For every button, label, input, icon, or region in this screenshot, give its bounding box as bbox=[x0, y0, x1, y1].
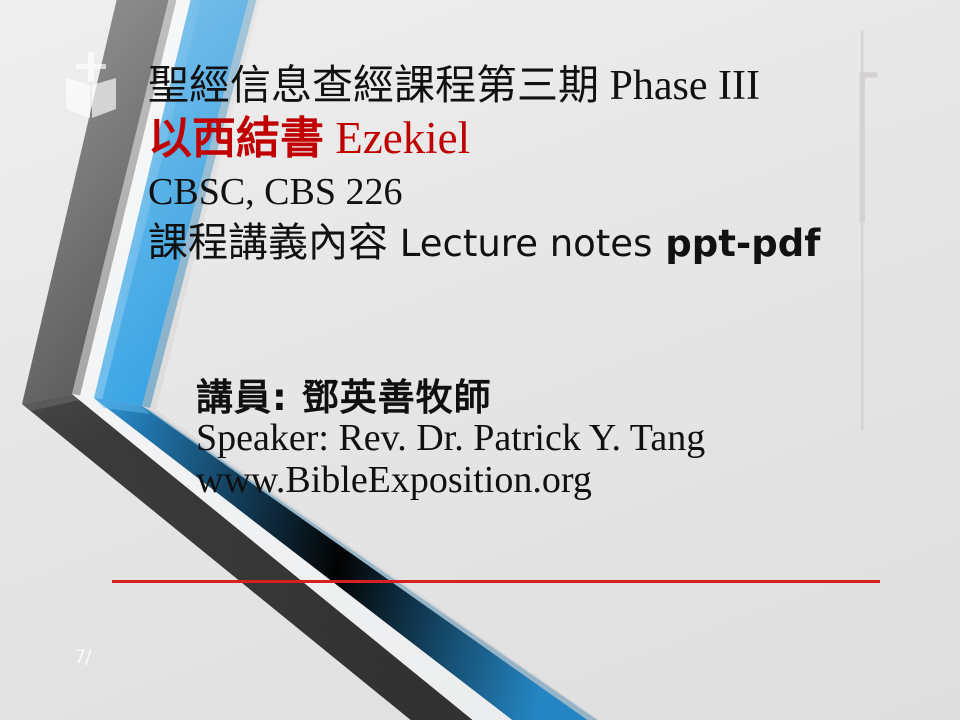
title-line-book-han: 以西結書 bbox=[148, 113, 324, 164]
slide-canvas: 聖經信息查經課程第三期 Phase III 以西結書 Ezekiel CBSC,… bbox=[0, 0, 960, 720]
title-line-notes: 課程講義內容 Lecture notes ppt-pdf bbox=[148, 222, 908, 264]
title-block: 聖經信息查經課程第三期 Phase III 以西結書 Ezekiel CBSC,… bbox=[148, 64, 908, 269]
speaker-name-han: 講員: 鄧英善牧師 bbox=[196, 378, 916, 418]
title-line-book: 以西結書 Ezekiel bbox=[148, 115, 908, 163]
title-line-notes-han: 課程講義內容 bbox=[148, 220, 388, 266]
page-number: 7/ bbox=[74, 646, 91, 668]
title-line-book-latin: Ezekiel bbox=[324, 113, 470, 163]
title-line-course: 聖經信息查經課程第三期 Phase III bbox=[148, 64, 908, 109]
horizontal-red-divider bbox=[112, 580, 880, 583]
speaker-name-latin: Speaker: Rev. Dr. Patrick Y. Tang bbox=[196, 418, 916, 459]
open-book-cross-icon bbox=[62, 52, 120, 122]
title-line-course-han: 聖經信息查經課程第三期 bbox=[148, 61, 599, 109]
title-line-code: CBSC, CBS 226 bbox=[148, 172, 908, 212]
speaker-block: 講員: 鄧英善牧師 Speaker: Rev. Dr. Patrick Y. T… bbox=[196, 378, 916, 501]
title-line-notes-format: ppt-pdf bbox=[652, 222, 820, 265]
title-line-notes-latin: Lecture notes bbox=[388, 222, 652, 265]
title-line-course-latin: Phase III bbox=[599, 63, 760, 109]
speaker-website[interactable]: www.BibleExposition.org bbox=[196, 460, 916, 501]
